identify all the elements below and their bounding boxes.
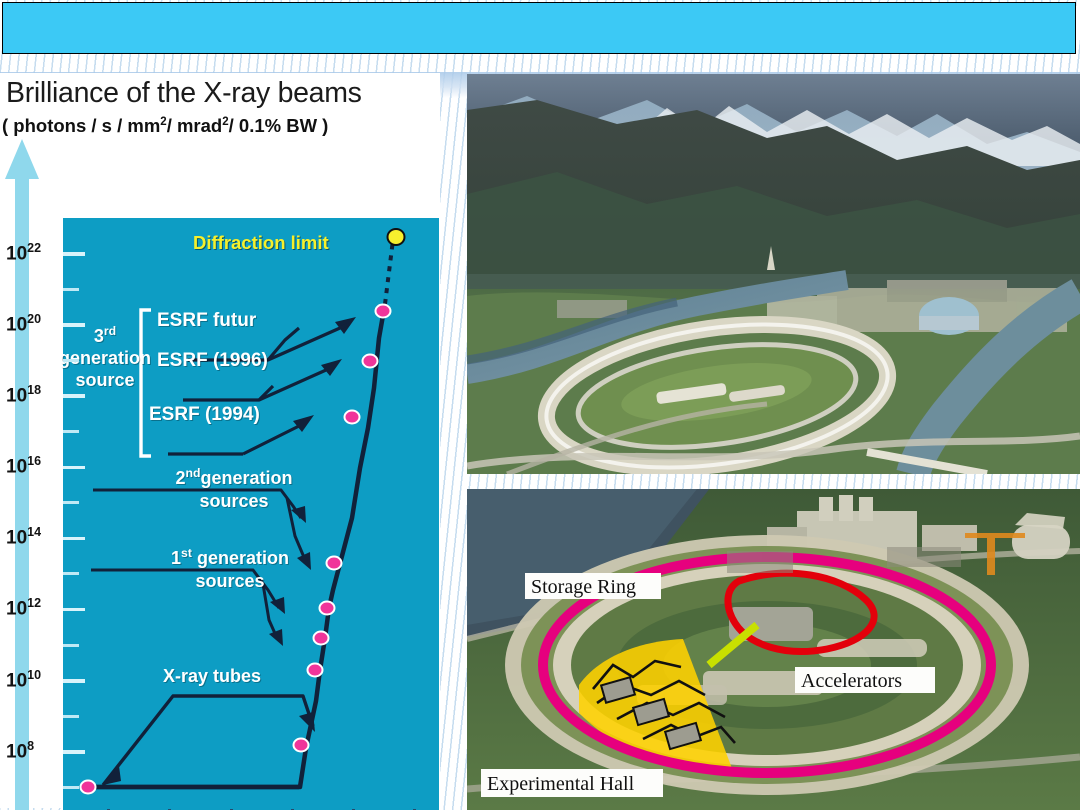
diffraction-limit-dotted-line	[385, 240, 393, 304]
y-axis-tick-minor	[63, 288, 79, 291]
annotation-esrf-futur: ESRF futur	[157, 310, 256, 332]
point-gen2-b[interactable]	[326, 556, 343, 571]
label-accelerators-text: Accelerators	[801, 670, 902, 692]
annotation-second-generation-sources: 2ndgeneration sources	[149, 466, 319, 512]
xray-tubes-callout	[103, 696, 313, 785]
y-axis-tick-major	[63, 394, 85, 398]
point-gen1-b[interactable]	[313, 631, 330, 646]
xray-tubes-arrowhead-left	[103, 766, 121, 785]
xray-tubes-arrowhead-right	[299, 712, 315, 732]
slide-canvas: Brilliance of the X-ray beams ( photons …	[0, 0, 1080, 810]
y-axis-tick-major	[63, 608, 85, 612]
gen1-arrowhead-b	[269, 629, 283, 646]
y-axis-tick-minor	[63, 715, 79, 718]
chart-plot-area: Diffraction limit ESRF futur ESRF (1996)…	[63, 218, 439, 810]
gen2-ordinal: nd	[186, 466, 201, 480]
gen3-source-word: source	[75, 370, 134, 390]
y-axis-tick-major	[63, 466, 85, 470]
gen2-sources-word: sources	[199, 491, 268, 511]
annotation-x-ray-tubes: X-ray tubes	[163, 666, 261, 687]
esrf-1996-leader2	[259, 366, 335, 400]
aerial-grenoble-illustration	[467, 74, 1080, 474]
esrf-closeup-illustration: Storage Ring Accelerators Experimental H…	[467, 489, 1080, 810]
annotation-diffraction-limit: Diffraction limit	[193, 232, 329, 254]
esrf-futur-leader2	[268, 324, 349, 360]
point-gen1-a[interactable]	[307, 663, 324, 678]
y-axis-tick-minor	[63, 430, 79, 433]
gen1-ordinal: st	[181, 546, 192, 560]
annotation-esrf-1994: ESRF (1994)	[149, 404, 260, 426]
annotation-first-generation-sources: 1st generation sources	[145, 546, 315, 592]
y-axis-tick-minor	[63, 501, 79, 504]
label-experimental-hall-text: Experimental Hall	[487, 773, 635, 795]
units-suffix: / 0.1% BW )	[229, 115, 329, 136]
brilliance-up-arrow-icon	[4, 139, 40, 810]
brilliance-chart-card: Brilliance of the X-ray beams ( photons …	[0, 73, 440, 808]
gen1-sources-word: sources	[195, 571, 264, 591]
units-prefix: ( photons / s / mm	[2, 115, 160, 136]
units-mid: / mrad	[167, 115, 223, 136]
point-xray-tube-1963[interactable]	[293, 738, 310, 753]
y-axis-tick-minor	[63, 359, 79, 362]
point-gen2-a[interactable]	[319, 601, 336, 616]
point-esrf-futur[interactable]	[375, 304, 392, 319]
gen1-generation-word: generation	[197, 548, 289, 568]
esrf-1994-leader2	[243, 422, 307, 454]
y-axis-tick-major	[63, 323, 85, 327]
esrf-1996-leader	[183, 386, 273, 400]
y-axis-tick-major	[63, 750, 85, 754]
point-xray-tube-1900[interactable]	[80, 780, 97, 795]
y-axis-tick-minor	[63, 786, 79, 789]
label-storage-ring-text: Storage Ring	[531, 576, 636, 598]
gen2-number: 2	[176, 468, 186, 488]
y-axis-tick-major	[63, 537, 85, 541]
y-axis-tick-major	[63, 252, 85, 256]
y-axis-tick-minor	[63, 644, 79, 647]
slide-title-placeholder[interactable]	[2, 2, 1076, 54]
gen3-ordinal: rd	[104, 324, 116, 338]
gen2-generation-word: generation	[200, 468, 292, 488]
gen3-number: 3	[94, 326, 104, 346]
photo-esrf-aerial-grenoble	[467, 74, 1080, 474]
y-axis-tick-minor	[63, 572, 79, 575]
photo-esrf-annotated-closeup: Storage Ring Accelerators Experimental H…	[467, 489, 1080, 810]
chart-title: Brilliance of the X-ray beams	[6, 77, 436, 110]
annotation-esrf-1996: ESRF (1996)	[157, 350, 268, 372]
point-diffraction-limit[interactable]	[387, 228, 406, 246]
esrf-1996-arrowhead	[321, 359, 342, 376]
point-esrf-1994[interactable]	[344, 410, 361, 425]
chart-units-subtitle: ( photons / s / mm2/ mrad2/ 0.1% BW )	[2, 115, 440, 137]
esrf-1994-arrowhead	[293, 415, 314, 432]
point-esrf-1996[interactable]	[362, 354, 379, 369]
gen1-number: 1	[171, 548, 181, 568]
y-axis-tick-major	[63, 679, 85, 683]
